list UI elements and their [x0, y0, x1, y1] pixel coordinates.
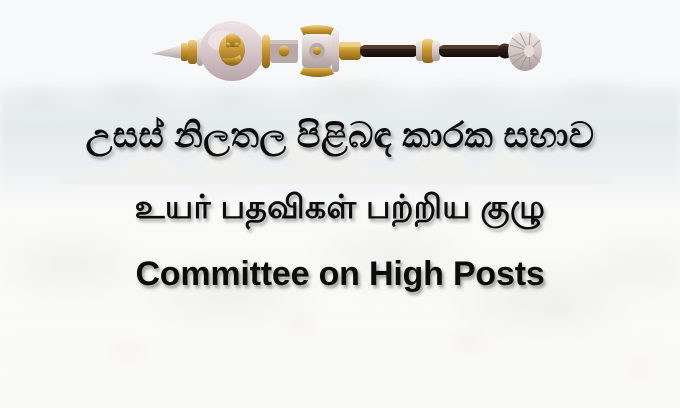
title-tamil: உயர் பதவிகள் பற்றிய குழு	[0, 190, 680, 223]
ceremonial-mace-icon	[150, 14, 550, 88]
title-sinhala: උසස් නිලතල පිළිබඳ කාරක සභාව	[0, 118, 680, 153]
committee-banner: උසස් නිලතල පිළිබඳ කාරක සභාව உயர் பதவிகள்…	[0, 0, 680, 408]
title-english: Committee on High Posts	[0, 257, 680, 291]
title-block: උසස් නිලතල පිළිබඳ කාරක සභාව உயர் பதவிகள்…	[0, 118, 680, 291]
